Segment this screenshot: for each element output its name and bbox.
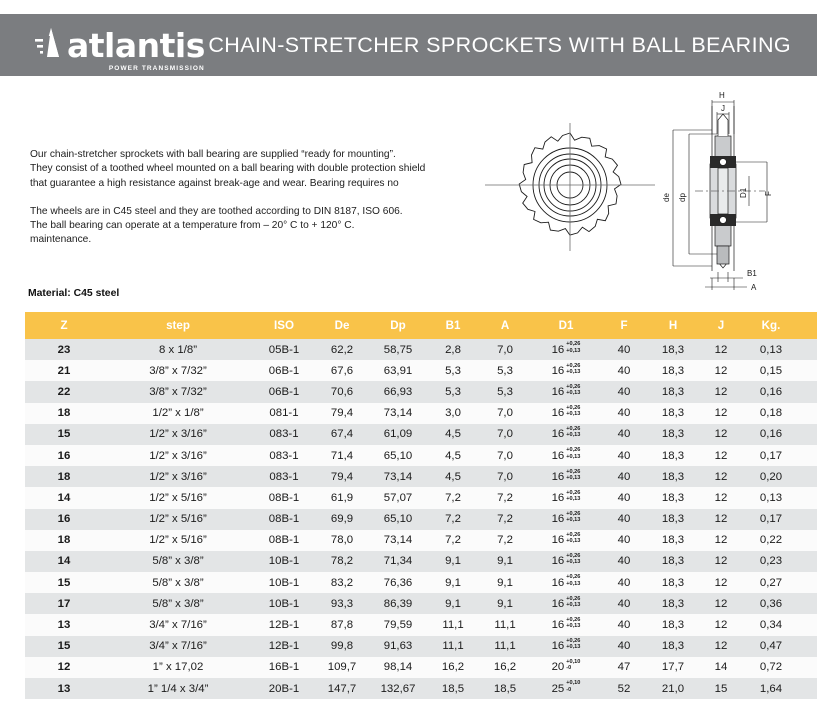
cell-z: 21 [25,360,103,381]
cell-step: 3/4” x 7/16” [103,614,253,635]
cell-step: 3/4” x 7/16” [103,636,253,657]
cell-f: 40 [601,466,647,487]
cell-step: 1” 1/4 x 3/4” [103,678,253,699]
cell-kg: 1,64 [743,678,799,699]
cell-d1-value: 16 [552,534,565,546]
cell-d1-value: 20 [552,661,565,673]
cell-z: 15 [25,424,103,445]
cell-iso: 06B-1 [253,360,315,381]
cell-b1: 4,5 [427,445,479,466]
cell-a: 5,3 [479,381,531,402]
col-header-f: F [601,312,647,339]
cell-f: 40 [601,487,647,508]
cell-h: 18,3 [647,636,699,657]
cell-iso: 10B-1 [253,593,315,614]
col-header-step: step [103,312,253,339]
cell-spacer [799,403,817,424]
cell-a: 7,2 [479,487,531,508]
cell-d1-value: 16 [552,428,565,440]
cell-f: 40 [601,636,647,657]
cell-b1: 5,3 [427,360,479,381]
cell-d1: 16+0,26+0,13 [531,509,601,530]
cell-de: 93,3 [315,593,369,614]
cell-h: 17,7 [647,657,699,678]
cell-f: 47 [601,657,647,678]
intro-line-4: The wheels are in C45 steel and they are… [30,205,460,219]
cell-b1: 4,5 [427,424,479,445]
cell-dp: 132,67 [369,678,427,699]
cell-z: 22 [25,381,103,402]
cell-step: 1/2” x 3/16” [103,424,253,445]
cell-dp: 61,09 [369,424,427,445]
cell-d1: 16+0,26+0,13 [531,614,601,635]
cell-f: 40 [601,593,647,614]
cell-step: 1/2” x 3/16” [103,466,253,487]
specification-table-wrapper: Z step ISO De Dp B1 A D1 F H J Kg. 238 x… [25,312,796,699]
cell-dp: 91,63 [369,636,427,657]
cell-b1: 7,2 [427,530,479,551]
cell-d1: 16+0,26+0,13 [531,551,601,572]
cell-b1: 16,2 [427,657,479,678]
cell-j: 12 [699,509,743,530]
cell-d1-value: 16 [552,471,565,483]
cell-z: 18 [25,466,103,487]
cell-spacer [799,678,817,699]
cell-d1: 16+0,26+0,13 [531,445,601,466]
cell-kg: 0,22 [743,530,799,551]
table-row: 121” x 17,0216B-1109,798,1416,216,220+0,… [25,657,817,678]
cell-de: 87,8 [315,614,369,635]
cell-j: 12 [699,487,743,508]
cell-h: 18,3 [647,530,699,551]
cell-d1-value: 16 [552,386,565,398]
brand-logo: atlantis POWER TRANSMISSION [0,26,208,64]
col-header-b1: B1 [427,312,479,339]
cell-kg: 0,27 [743,572,799,593]
cell-d1: 16+0,26+0,13 [531,339,601,360]
cell-de: 83,2 [315,572,369,593]
cell-spacer [799,593,817,614]
table-row: 131” 1/4 x 3/4”20B-1147,7132,6718,518,52… [25,678,817,699]
cell-d1-value: 16 [552,450,565,462]
table-row: 238 x 1/8”05B-162,258,752,87,016+0,26+0,… [25,339,817,360]
col-header-z: Z [25,312,103,339]
cell-d1-tolerance: +0,26+0,13 [566,638,580,650]
cell-step: 1/2” x 3/16” [103,445,253,466]
intro-line-1: Our chain-stretcher sprockets with ball … [30,148,460,162]
cell-d1-value: 16 [552,598,565,610]
cell-iso: 10B-1 [253,572,315,593]
cell-j: 14 [699,657,743,678]
cell-spacer [799,551,817,572]
cell-h: 18,3 [647,339,699,360]
cell-iso: 16B-1 [253,657,315,678]
cell-h: 18,3 [647,381,699,402]
cell-spacer [799,360,817,381]
table-row: 151/2” x 3/16”083-167,461,094,57,016+0,2… [25,424,817,445]
cell-dp: 65,10 [369,445,427,466]
cell-h: 18,3 [647,445,699,466]
dim-label-dp: dp [678,193,687,202]
cell-z: 13 [25,678,103,699]
cell-step: 1/2” x 5/16” [103,509,253,530]
table-row: 153/4” x 7/16”12B-199,891,6311,111,116+0… [25,636,817,657]
cell-de: 79,4 [315,466,369,487]
table-row: 141/2” x 5/16”08B-161,957,077,27,216+0,2… [25,487,817,508]
cell-spacer [799,657,817,678]
cell-de: 71,4 [315,445,369,466]
cell-kg: 0,17 [743,509,799,530]
cell-de: 62,2 [315,339,369,360]
cell-b1: 2,8 [427,339,479,360]
paragraph-gap [30,191,460,205]
intro-line-6: maintenance. [30,233,460,247]
cell-f: 40 [601,339,647,360]
cell-d1-tolerance: +0,10-0 [566,680,580,692]
cell-de: 69,9 [315,509,369,530]
intro-line-5: The ball bearing can operate at a temper… [30,219,460,233]
cell-kg: 0,23 [743,551,799,572]
cell-a: 16,2 [479,657,531,678]
cell-de: 61,9 [315,487,369,508]
cell-z: 14 [25,551,103,572]
cell-d1-value: 16 [552,344,565,356]
cell-z: 12 [25,657,103,678]
cell-spacer [799,530,817,551]
page-header: atlantis POWER TRANSMISSION CHAIN-STRETC… [0,14,817,76]
cell-b1: 3,0 [427,403,479,424]
cell-d1-value: 16 [552,640,565,652]
cell-f: 40 [601,551,647,572]
cell-f: 40 [601,360,647,381]
cell-j: 12 [699,424,743,445]
cell-f: 40 [601,614,647,635]
cell-spacer [799,614,817,635]
table-body: 238 x 1/8”05B-162,258,752,87,016+0,26+0,… [25,339,817,699]
cell-kg: 0,16 [743,381,799,402]
intro-text-block: Our chain-stretcher sprockets with ball … [30,148,460,248]
cell-spacer [799,381,817,402]
cell-dp: 58,75 [369,339,427,360]
cell-h: 18,3 [647,572,699,593]
cell-dp: 79,59 [369,614,427,635]
cell-h: 18,3 [647,466,699,487]
cell-kg: 0,13 [743,487,799,508]
col-header-iso: ISO [253,312,315,339]
cell-a: 7,0 [479,403,531,424]
cell-kg: 0,47 [743,636,799,657]
cell-h: 18,3 [647,424,699,445]
cell-step: 5/8” x 3/8” [103,572,253,593]
cell-de: 147,7 [315,678,369,699]
cell-dp: 65,10 [369,509,427,530]
cell-j: 12 [699,551,743,572]
table-row: 181/2” x 1/8”081-179,473,143,07,016+0,26… [25,403,817,424]
cell-h: 18,3 [647,509,699,530]
cell-b1: 11,1 [427,614,479,635]
cell-z: 18 [25,530,103,551]
cell-d1-tolerance: +0,26+0,13 [566,426,580,438]
table-row: 133/4” x 7/16”12B-187,879,5911,111,116+0… [25,614,817,635]
cell-d1-tolerance: +0,26+0,13 [566,447,580,459]
cell-dp: 98,14 [369,657,427,678]
cell-h: 18,3 [647,403,699,424]
cell-d1: 20+0,10-0 [531,657,601,678]
cell-a: 7,0 [479,466,531,487]
cell-de: 67,6 [315,360,369,381]
cell-d1-tolerance: +0,26+0,13 [566,574,580,586]
cell-spacer [799,445,817,466]
cell-dp: 63,91 [369,360,427,381]
cell-f: 40 [601,424,647,445]
cell-f: 40 [601,509,647,530]
cell-kg: 0,18 [743,403,799,424]
table-header-row: Z step ISO De Dp B1 A D1 F H J Kg. [25,312,817,339]
cell-spacer [799,509,817,530]
cell-a: 7,2 [479,530,531,551]
cell-d1-tolerance: +0,26+0,13 [566,511,580,523]
cell-step: 1/2” x 1/8” [103,403,253,424]
col-header-h: H [647,312,699,339]
table-row: 175/8” x 3/8”10B-193,386,399,19,116+0,26… [25,593,817,614]
cell-f: 40 [601,403,647,424]
cell-d1: 16+0,26+0,13 [531,636,601,657]
cell-spacer [799,487,817,508]
cell-iso: 083-1 [253,424,315,445]
cell-b1: 9,1 [427,572,479,593]
cell-iso: 12B-1 [253,614,315,635]
cell-a: 11,1 [479,614,531,635]
cell-dp: 66,93 [369,381,427,402]
cell-z: 17 [25,593,103,614]
cell-h: 21,0 [647,678,699,699]
cell-z: 18 [25,403,103,424]
cell-iso: 08B-1 [253,530,315,551]
cell-step: 3/8” x 7/32” [103,381,253,402]
dim-label-b1: B1 [747,269,757,278]
col-header-d1: D1 [531,312,601,339]
table-row: 161/2” x 3/16”083-171,465,104,57,016+0,2… [25,445,817,466]
cell-h: 18,3 [647,614,699,635]
cell-d1-tolerance: +0,26+0,13 [566,384,580,396]
cell-b1: 11,1 [427,636,479,657]
sprocket-section-view: H J de dp D1 F B1 A [655,86,817,296]
cell-d1: 16+0,26+0,13 [531,424,601,445]
cell-step: 1/2” x 5/16” [103,487,253,508]
cell-a: 7,2 [479,509,531,530]
cell-iso: 08B-1 [253,487,315,508]
cell-step: 8 x 1/8” [103,339,253,360]
table-header: Z step ISO De Dp B1 A D1 F H J Kg. [25,312,817,339]
cell-j: 12 [699,593,743,614]
cell-step: 3/8” x 7/32” [103,360,253,381]
cell-kg: 0,34 [743,614,799,635]
cell-h: 18,3 [647,551,699,572]
logo-wordmark: atlantis [67,26,205,65]
cell-iso: 081-1 [253,403,315,424]
cell-z: 16 [25,445,103,466]
cell-kg: 0,16 [743,424,799,445]
cell-d1-tolerance: +0,26+0,13 [566,596,580,608]
cell-j: 12 [699,360,743,381]
col-header-dp: Dp [369,312,427,339]
cell-z: 23 [25,339,103,360]
cell-a: 7,0 [479,424,531,445]
table-row: 155/8” x 3/8”10B-183,276,369,19,116+0,26… [25,572,817,593]
cell-j: 12 [699,614,743,635]
col-header-kg: Kg. [743,312,799,339]
cell-z: 15 [25,636,103,657]
dim-label-f: F [764,191,773,196]
cell-a: 9,1 [479,551,531,572]
cell-dp: 57,07 [369,487,427,508]
cell-a: 7,0 [479,339,531,360]
cell-de: 70,6 [315,381,369,402]
cell-kg: 0,36 [743,593,799,614]
cell-de: 79,4 [315,403,369,424]
cell-spacer [799,636,817,657]
cell-j: 12 [699,572,743,593]
cell-step: 5/8” x 3/8” [103,551,253,572]
cell-h: 18,3 [647,360,699,381]
table-row: 213/8” x 7/32”06B-167,663,915,35,316+0,2… [25,360,817,381]
cell-de: 109,7 [315,657,369,678]
cell-d1: 25+0,10-0 [531,678,601,699]
specification-table: Z step ISO De Dp B1 A D1 F H J Kg. 238 x… [25,312,817,699]
table-row: 145/8” x 3/8”10B-178,271,349,19,116+0,26… [25,551,817,572]
cell-z: 15 [25,572,103,593]
cell-j: 12 [699,466,743,487]
cell-b1: 7,2 [427,487,479,508]
cell-b1: 7,2 [427,509,479,530]
cell-d1-tolerance: +0,26+0,13 [566,405,580,417]
cell-d1-value: 16 [552,513,565,525]
table-row: 181/2” x 3/16”083-179,473,144,57,016+0,2… [25,466,817,487]
table-row: 181/2” x 5/16”08B-178,073,147,27,216+0,2… [25,530,817,551]
cell-h: 18,3 [647,593,699,614]
cell-iso: 05B-1 [253,339,315,360]
cell-d1: 16+0,26+0,13 [531,466,601,487]
cell-spacer [799,339,817,360]
cell-kg: 0,17 [743,445,799,466]
cell-d1-tolerance: +0,10-0 [566,659,580,671]
dim-label-j: J [721,104,725,113]
cell-a: 9,1 [479,572,531,593]
table-row: 223/8” x 7/32”06B-170,666,935,35,316+0,2… [25,381,817,402]
cell-dp: 73,14 [369,530,427,551]
dim-label-de: de [662,193,671,202]
cell-z: 16 [25,509,103,530]
cell-d1-tolerance: +0,26+0,13 [566,490,580,502]
intro-line-3: that guarantee a high resistance against… [30,177,460,191]
cell-j: 15 [699,678,743,699]
cell-a: 11,1 [479,636,531,657]
cell-dp: 71,34 [369,551,427,572]
cell-d1: 16+0,26+0,13 [531,530,601,551]
cell-de: 78,2 [315,551,369,572]
col-header-spacer [799,312,817,339]
cell-de: 78,0 [315,530,369,551]
cell-spacer [799,572,817,593]
cell-f: 40 [601,530,647,551]
cell-a: 18,5 [479,678,531,699]
cell-step: 1” x 17,02 [103,657,253,678]
cell-f: 52 [601,678,647,699]
cell-iso: 12B-1 [253,636,315,657]
cell-d1-tolerance: +0,26+0,13 [566,341,580,353]
cell-iso: 20B-1 [253,678,315,699]
cell-spacer [799,466,817,487]
sprocket-front-view [470,108,670,283]
cell-d1-tolerance: +0,26+0,13 [566,553,580,565]
cell-de: 67,4 [315,424,369,445]
cell-dp: 73,14 [369,466,427,487]
cell-j: 12 [699,403,743,424]
col-header-de: De [315,312,369,339]
cell-d1-tolerance: +0,26+0,13 [566,532,580,544]
cell-spacer [799,424,817,445]
cell-d1-tolerance: +0,26+0,13 [566,469,580,481]
cell-b1: 5,3 [427,381,479,402]
cell-b1: 4,5 [427,466,479,487]
cell-f: 40 [601,445,647,466]
cell-step: 5/8” x 3/8” [103,593,253,614]
cell-step: 1/2” x 5/16” [103,530,253,551]
cell-z: 14 [25,487,103,508]
cell-kg: 0,72 [743,657,799,678]
cell-dp: 86,39 [369,593,427,614]
cell-d1-value: 16 [552,577,565,589]
cell-f: 40 [601,572,647,593]
cell-d1: 16+0,26+0,13 [531,487,601,508]
cell-h: 18,3 [647,487,699,508]
cell-d1: 16+0,26+0,13 [531,403,601,424]
cell-de: 99,8 [315,636,369,657]
cell-f: 40 [601,381,647,402]
cell-b1: 18,5 [427,678,479,699]
cell-j: 12 [699,636,743,657]
cell-j: 12 [699,381,743,402]
cell-d1-value: 25 [552,683,565,695]
cell-d1: 16+0,26+0,13 [531,593,601,614]
cell-b1: 9,1 [427,551,479,572]
cell-iso: 083-1 [253,466,315,487]
cell-z: 13 [25,614,103,635]
cell-j: 12 [699,445,743,466]
cell-iso: 083-1 [253,445,315,466]
cell-d1-value: 16 [552,492,565,504]
page-title: CHAIN-STRETCHER SPROCKETS WITH BALL BEAR… [208,33,817,58]
cell-d1-value: 16 [552,365,565,377]
cell-iso: 08B-1 [253,509,315,530]
cell-d1-value: 16 [552,619,565,631]
atlantis-a-mark-icon [34,26,60,60]
cell-kg: 0,13 [743,339,799,360]
cell-d1: 16+0,26+0,13 [531,572,601,593]
cell-j: 12 [699,339,743,360]
col-header-j: J [699,312,743,339]
intro-line-2: They consist of a toothed wheel mounted … [30,162,460,176]
material-label: Material: C45 steel [28,288,119,299]
col-header-a: A [479,312,531,339]
cell-iso: 10B-1 [253,551,315,572]
cell-dp: 73,14 [369,403,427,424]
logo-tagline: POWER TRANSMISSION [109,65,205,72]
cell-d1-value: 16 [552,555,565,567]
cell-a: 9,1 [479,593,531,614]
cell-iso: 06B-1 [253,381,315,402]
table-row: 161/2” x 5/16”08B-169,965,107,27,216+0,2… [25,509,817,530]
